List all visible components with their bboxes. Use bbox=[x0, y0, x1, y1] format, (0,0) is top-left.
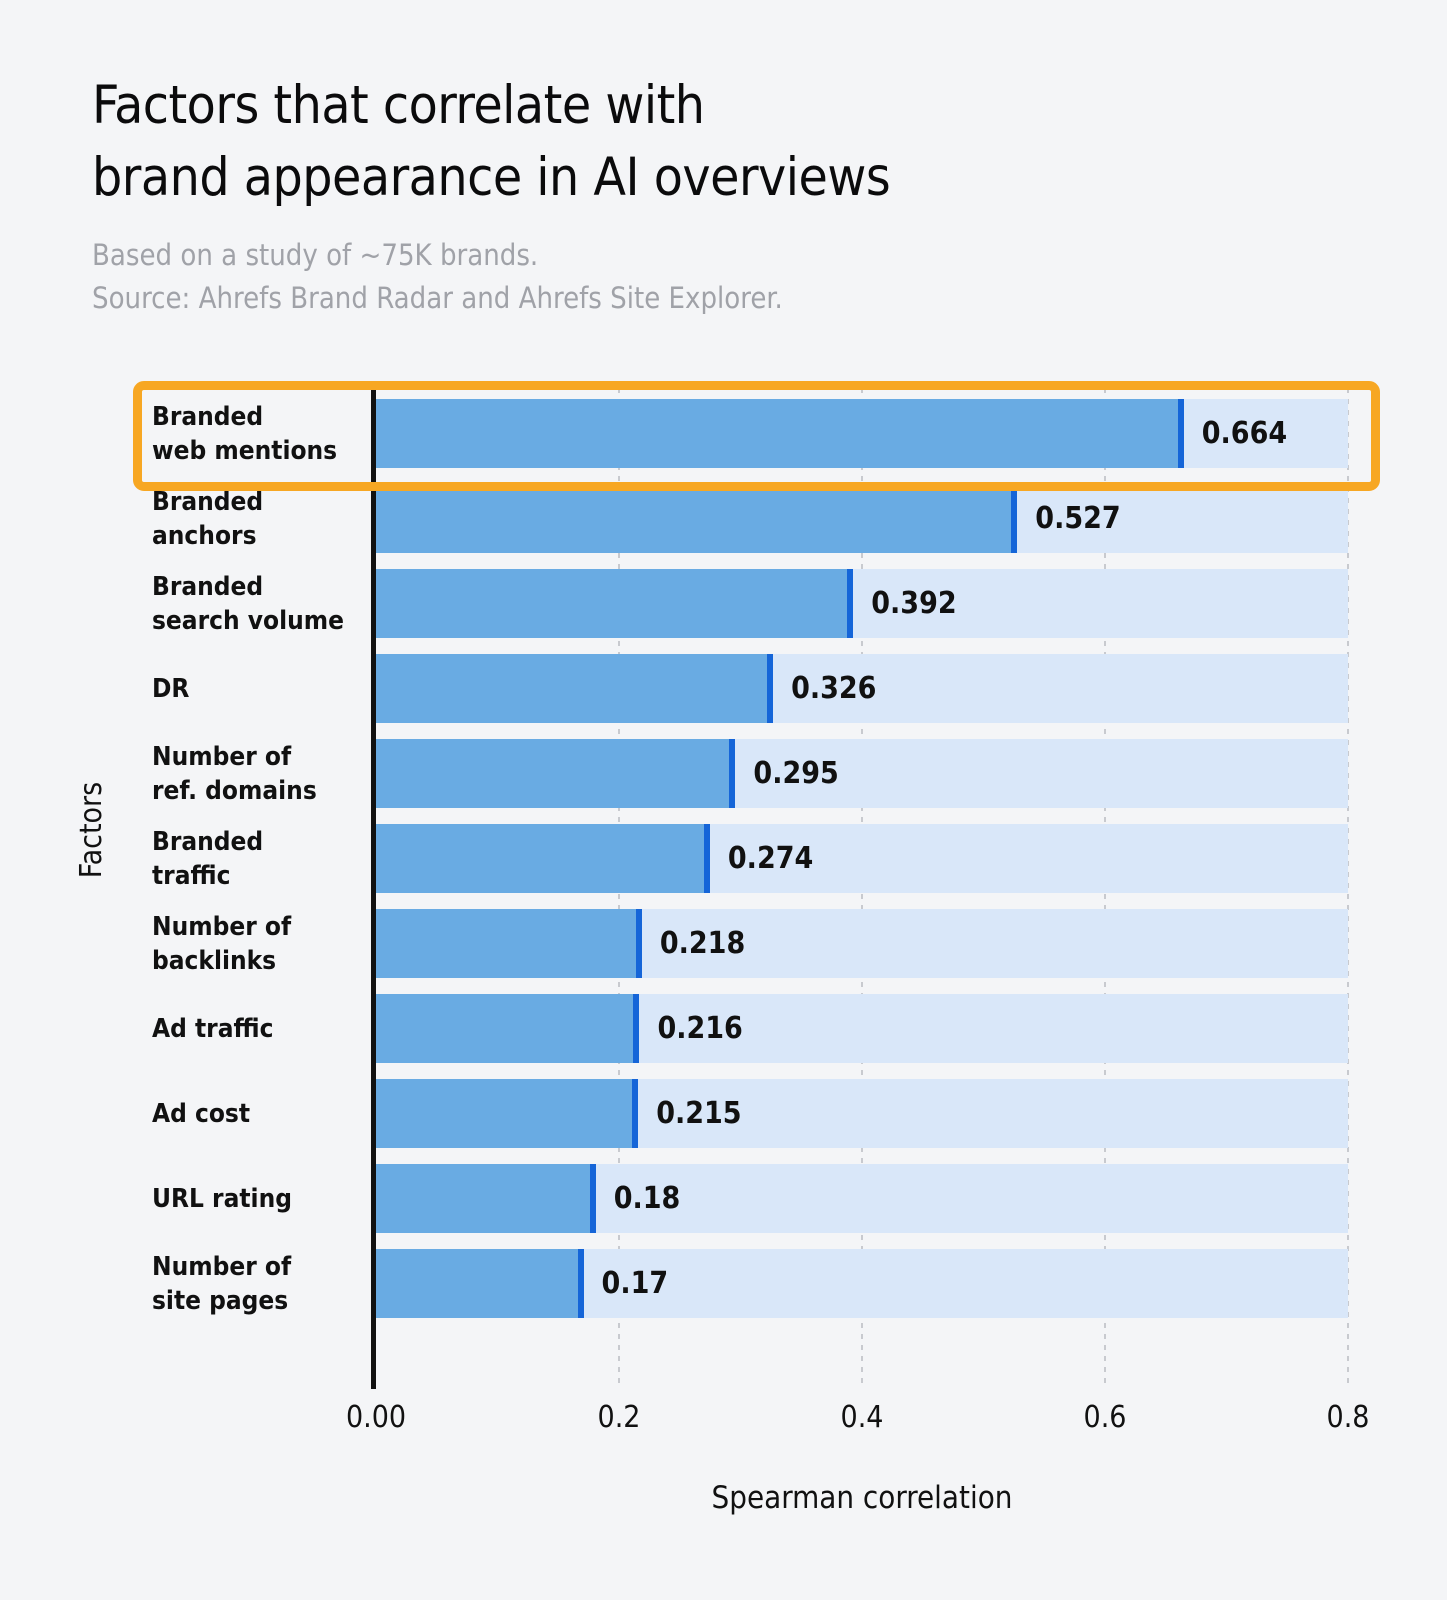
bar-value-label: 0.218 bbox=[642, 909, 745, 978]
x-tick-label: 0.00 bbox=[346, 1400, 406, 1435]
bar-fill[interactable] bbox=[376, 994, 638, 1063]
bar-value-label: 0.274 bbox=[710, 824, 813, 893]
bar-row-label: Number of ref. domains bbox=[152, 731, 364, 816]
bar-row-label: Number of backlinks bbox=[152, 901, 364, 986]
bar-fill[interactable] bbox=[376, 1249, 583, 1318]
bar-fill[interactable] bbox=[376, 1164, 595, 1233]
bar-row-label: DR bbox=[152, 646, 364, 731]
x-tick-label: 0.8 bbox=[1327, 1400, 1370, 1435]
bar-row-label: Ad traffic bbox=[152, 986, 364, 1071]
bar-value-label: 0.17 bbox=[584, 1249, 669, 1318]
bar-value-label: 0.18 bbox=[596, 1164, 681, 1233]
bar-fill[interactable] bbox=[376, 654, 772, 723]
bar-track: 0.527 bbox=[376, 484, 1348, 553]
bar-row-label: URL rating bbox=[152, 1156, 364, 1241]
bar-row[interactable]: Branded search volume0.392 bbox=[0, 561, 1447, 646]
bar-row[interactable]: DR0.326 bbox=[0, 646, 1447, 731]
x-tick-label: 0.6 bbox=[1084, 1400, 1127, 1435]
bar-value-label: 0.392 bbox=[853, 569, 956, 638]
bar-track: 0.18 bbox=[376, 1164, 1348, 1233]
bar-row[interactable]: Branded traffic0.274 bbox=[0, 816, 1447, 901]
bar-fill[interactable] bbox=[376, 399, 1183, 468]
bar-fill[interactable] bbox=[376, 824, 709, 893]
bar-value-label: 0.326 bbox=[773, 654, 876, 723]
bar-value-label: 0.664 bbox=[1184, 399, 1287, 468]
bar-row[interactable]: Branded anchors0.527 bbox=[0, 476, 1447, 561]
bar-row-label: Branded traffic bbox=[152, 816, 364, 901]
bar-fill[interactable] bbox=[376, 484, 1016, 553]
bar-row[interactable]: Number of site pages0.17 bbox=[0, 1241, 1447, 1326]
bar-row-label: Ad cost bbox=[152, 1071, 364, 1156]
bar-track: 0.17 bbox=[376, 1249, 1348, 1318]
x-tick-label: 0.2 bbox=[598, 1400, 641, 1435]
bar-row-label: Branded web mentions bbox=[152, 391, 364, 476]
bar-rows: Branded web mentions0.664Branded anchors… bbox=[0, 391, 1447, 1326]
x-axis-label: Spearman correlation bbox=[376, 1480, 1348, 1516]
bar-track: 0.216 bbox=[376, 994, 1348, 1063]
bar-row[interactable]: Ad cost0.215 bbox=[0, 1071, 1447, 1156]
bar-fill[interactable] bbox=[376, 1079, 637, 1148]
chart-plot-area: Factors Branded web mentions0.664Branded… bbox=[0, 0, 1447, 1600]
bar-track: 0.664 bbox=[376, 399, 1348, 468]
bar-fill[interactable] bbox=[376, 569, 852, 638]
bar-track: 0.274 bbox=[376, 824, 1348, 893]
bar-row[interactable]: Branded web mentions0.664 bbox=[0, 391, 1447, 476]
bar-row[interactable]: URL rating0.18 bbox=[0, 1156, 1447, 1241]
bar-value-label: 0.295 bbox=[735, 739, 838, 808]
bar-row[interactable]: Number of ref. domains0.295 bbox=[0, 731, 1447, 816]
bar-fill[interactable] bbox=[376, 739, 734, 808]
bar-fill[interactable] bbox=[376, 909, 641, 978]
bar-value-label: 0.216 bbox=[639, 994, 742, 1063]
bar-track: 0.215 bbox=[376, 1079, 1348, 1148]
x-tick-label: 0.4 bbox=[841, 1400, 884, 1435]
bar-row-label: Number of site pages bbox=[152, 1241, 364, 1326]
x-axis-ticks: 0.000.20.40.60.8 bbox=[0, 1400, 1447, 1450]
bar-track: 0.392 bbox=[376, 569, 1348, 638]
bar-row[interactable]: Ad traffic0.216 bbox=[0, 986, 1447, 1071]
bar-track: 0.295 bbox=[376, 739, 1348, 808]
bar-row-label: Branded anchors bbox=[152, 476, 364, 561]
bar-track: 0.218 bbox=[376, 909, 1348, 978]
bar-value-label: 0.215 bbox=[638, 1079, 741, 1148]
bar-value-label: 0.527 bbox=[1017, 484, 1120, 553]
bar-row[interactable]: Number of backlinks0.218 bbox=[0, 901, 1447, 986]
bar-track: 0.326 bbox=[376, 654, 1348, 723]
bar-row-label: Branded search volume bbox=[152, 561, 364, 646]
